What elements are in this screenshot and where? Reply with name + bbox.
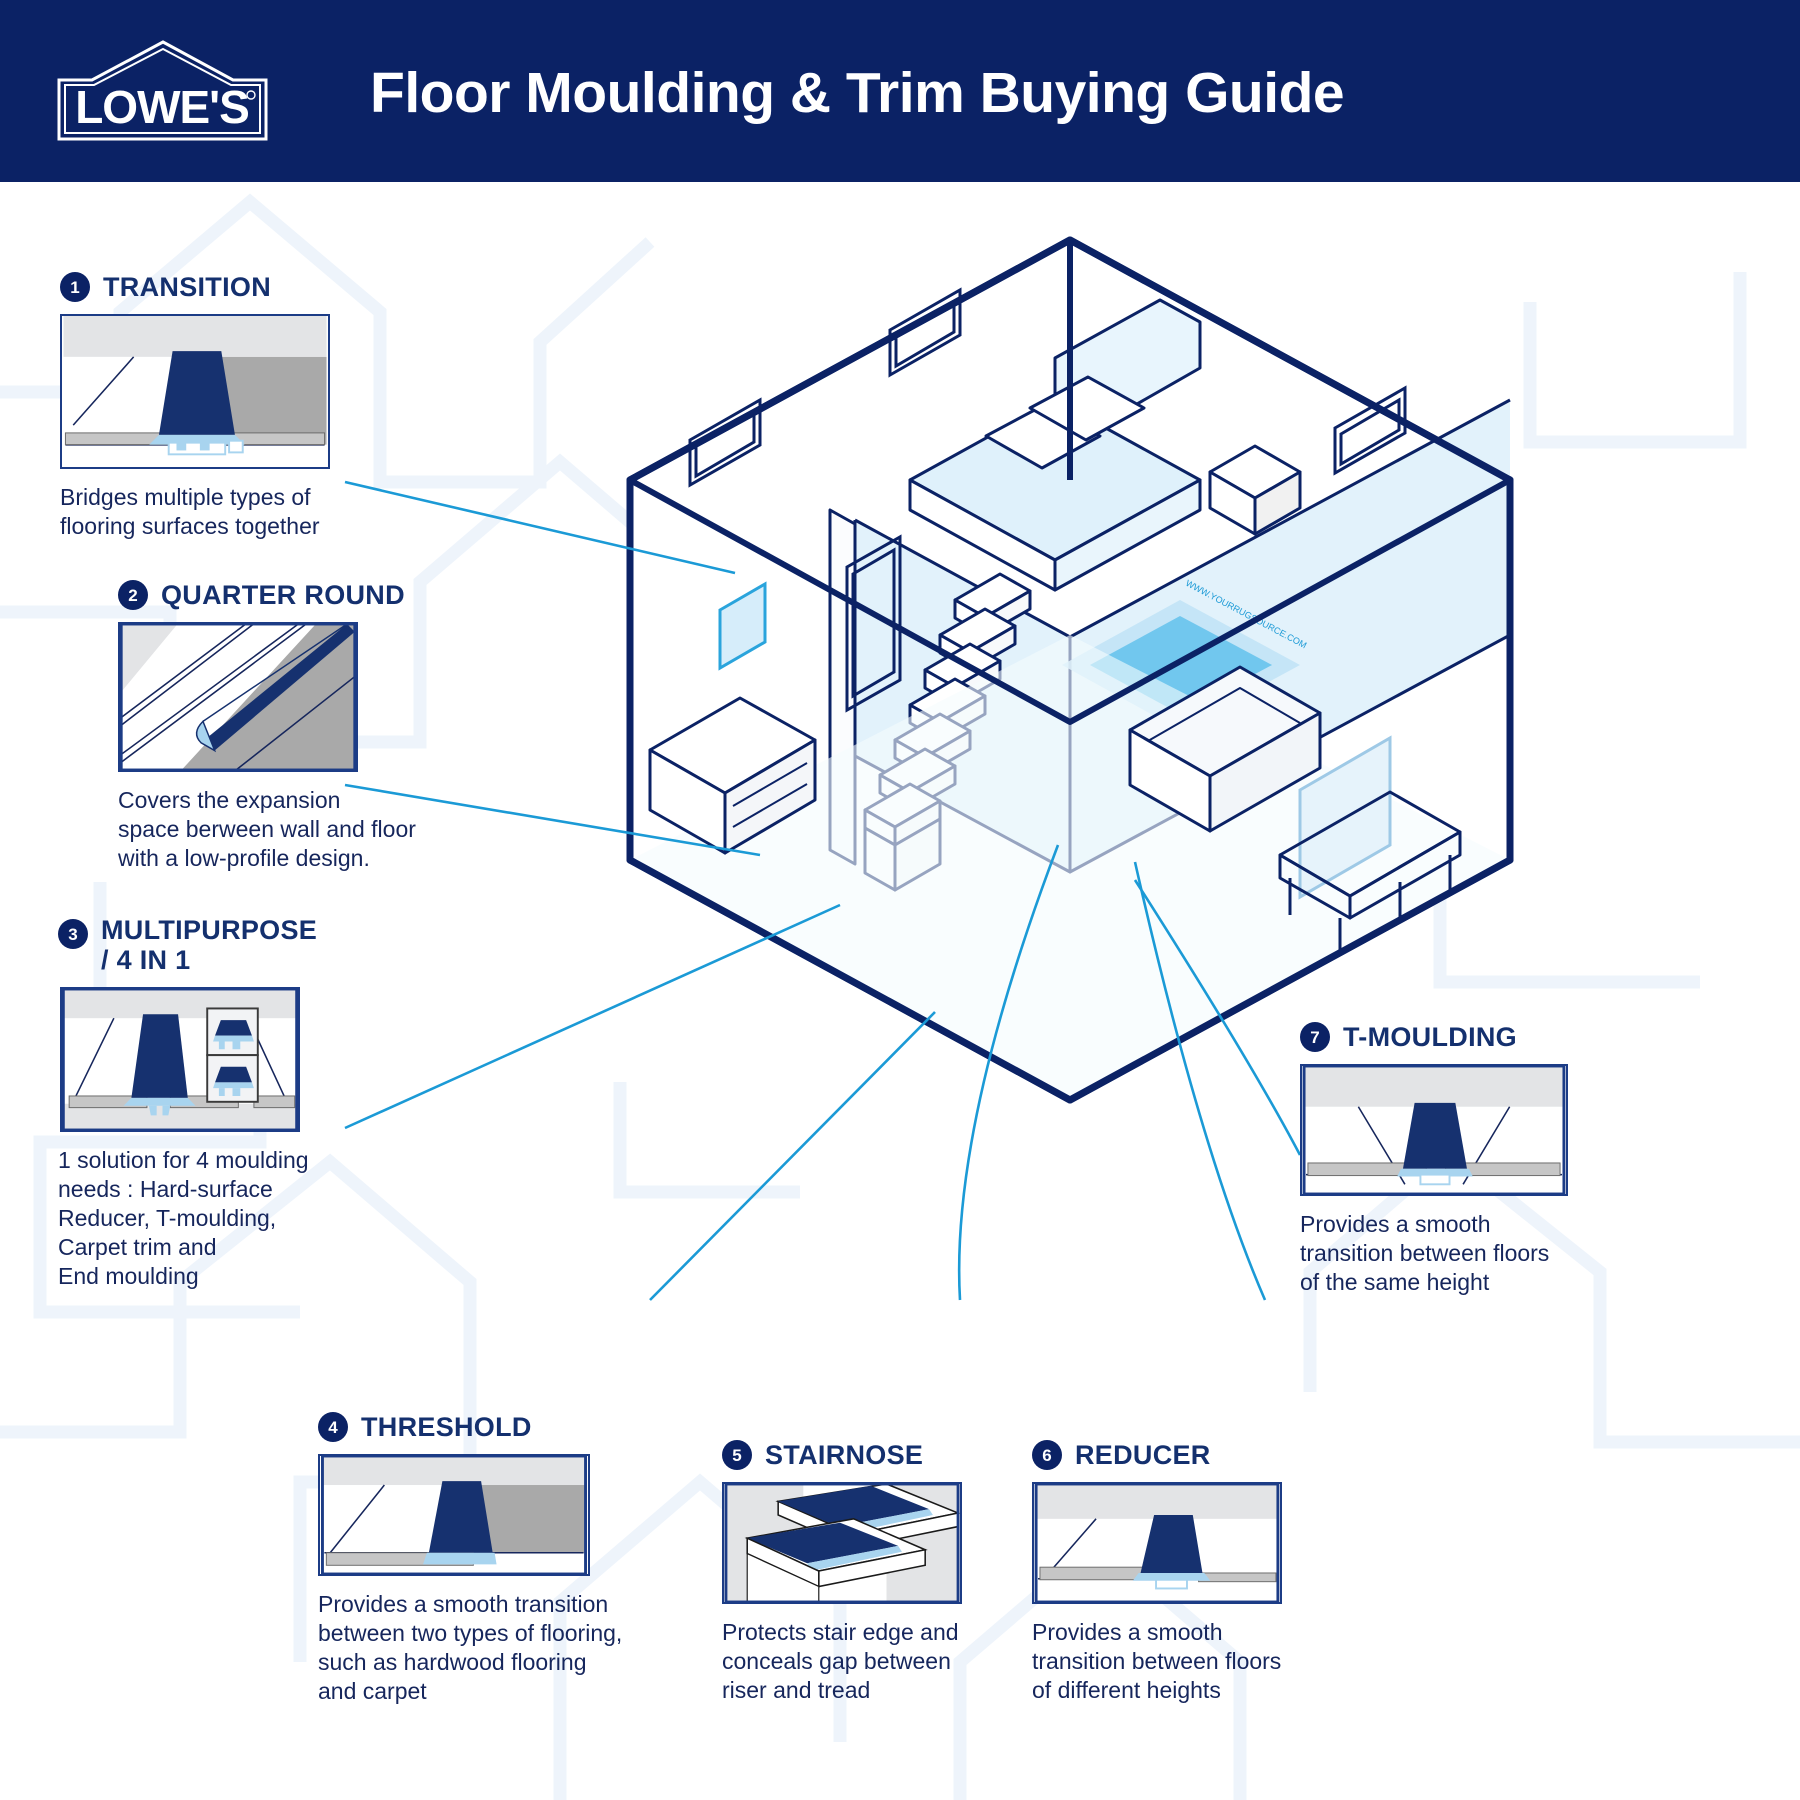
callout-threshold: 4 THRESHOLD Provides a smooth transition… (318, 1412, 698, 1706)
callout-7-title: T-MOULDING (1343, 1022, 1517, 1052)
reducer-profile-thumb (1032, 1482, 1282, 1604)
quarter-round-profile-thumb (118, 622, 358, 772)
callout-2-badge: 2 (118, 580, 148, 610)
callout-3-badge: 3 (58, 919, 88, 949)
callout-quarter-round: 2 QUARTER ROUND Covers the expansion spa… (118, 580, 478, 873)
callout-4-title: THRESHOLD (361, 1412, 532, 1442)
callout-1-title: TRANSITION (103, 272, 271, 302)
callout-reducer: 6 REDUCER Provides a smooth transition b… (1032, 1440, 1332, 1705)
lowes-logo: LOWE'S (55, 38, 270, 143)
callout-4-badge: 4 (318, 1412, 348, 1442)
callout-5-head: 5 STAIRNOSE (722, 1440, 1022, 1470)
callout-1-badge: 1 (60, 272, 90, 302)
page-title: Floor Moulding & Trim Buying Guide (370, 60, 1344, 126)
callout-2-head: 2 QUARTER ROUND (118, 580, 478, 610)
callout-5-desc: Protects stair edge and conceals gap bet… (722, 1618, 1022, 1705)
t-moulding-profile-thumb (1300, 1064, 1568, 1196)
stairnose-profile-thumb (722, 1482, 962, 1604)
callout-transition: 1 TRANSITION Bridges multiple types of f… (60, 272, 390, 541)
multipurpose-profile-thumb (60, 987, 300, 1132)
callout-1-desc: Bridges multiple types of flooring surfa… (60, 483, 390, 541)
callout-4-desc: Provides a smooth transition between two… (318, 1590, 698, 1706)
isometric-house-illustration: WWW.YOURRUGSOURCE.COM (600, 210, 1550, 1110)
callout-2-desc: Covers the expansion space berween wall … (118, 786, 478, 873)
callout-7-badge: 7 (1300, 1022, 1330, 1052)
callout-7-head: 7 T-MOULDING (1300, 1022, 1610, 1052)
callout-3-head: 3 MULTIPURPOSE / 4 IN 1 (58, 915, 398, 975)
callout-3-title: MULTIPURPOSE / 4 IN 1 (101, 915, 317, 975)
callout-1-head: 1 TRANSITION (60, 272, 390, 302)
callout-6-head: 6 REDUCER (1032, 1440, 1332, 1470)
callout-2-title: QUARTER ROUND (161, 580, 405, 610)
callout-3-desc: 1 solution for 4 moulding needs : Hard-s… (58, 1146, 398, 1291)
callout-6-badge: 6 (1032, 1440, 1062, 1470)
lowes-wordmark: LOWE'S (75, 81, 249, 133)
callout-7-desc: Provides a smooth transition between flo… (1300, 1210, 1610, 1297)
callout-6-title: REDUCER (1075, 1440, 1211, 1470)
callout-4-head: 4 THRESHOLD (318, 1412, 698, 1442)
callout-5-title: STAIRNOSE (765, 1440, 923, 1470)
callout-t-moulding: 7 T-MOULDING Provides a smooth transitio… (1300, 1022, 1610, 1297)
page-header: LOWE'S Floor Moulding & Trim Buying Guid… (0, 0, 1800, 182)
callout-5-badge: 5 (722, 1440, 752, 1470)
transition-profile-thumb (60, 314, 330, 469)
callout-multipurpose: 3 MULTIPURPOSE / 4 IN 1 1 solution for 4… (58, 915, 398, 1291)
threshold-profile-thumb (318, 1454, 590, 1576)
callout-stairnose: 5 STAIRNOSE Protects stair edge and conc… (722, 1440, 1022, 1705)
callout-6-desc: Provides a smooth transition between flo… (1032, 1618, 1332, 1705)
